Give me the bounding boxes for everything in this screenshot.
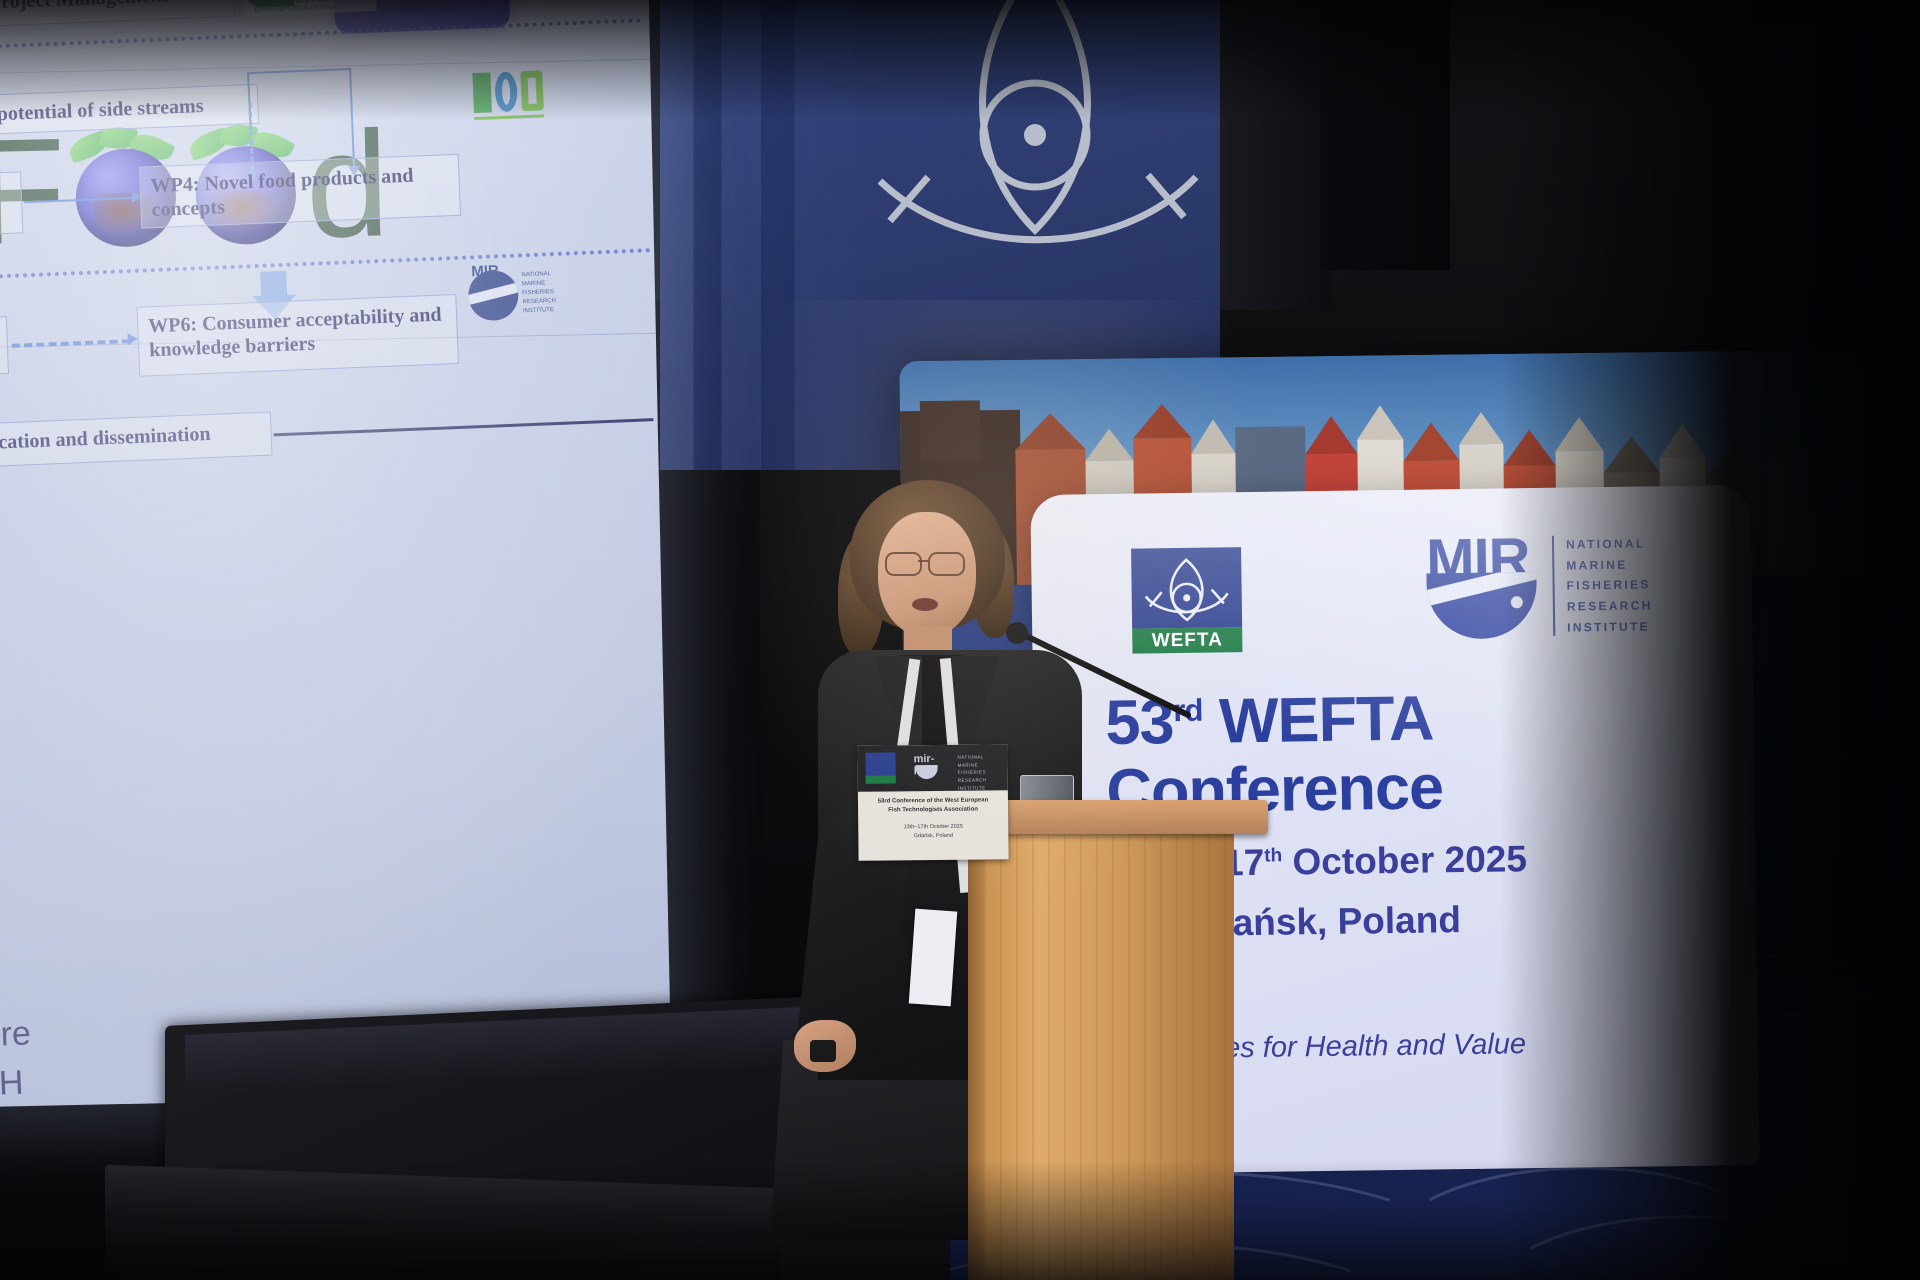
vignette-top xyxy=(0,0,1920,120)
wefta-logo-square xyxy=(1131,547,1242,629)
podium-sign-wefta-logo xyxy=(865,752,895,783)
podium-sign-details: 13th–17th October 2025 Gdańsk, Poland xyxy=(864,822,1002,841)
eyeglasses-bridge xyxy=(918,560,928,562)
lanyard-badge xyxy=(909,909,958,1007)
diagram-dashline-wp6 xyxy=(12,339,130,348)
diagram-line-sintef xyxy=(24,197,134,203)
microphone-head xyxy=(1006,622,1028,644)
podium-sign-title-line-2: Fish Technologists Association xyxy=(864,805,1002,815)
big-arrow-stem xyxy=(260,271,287,298)
podium-mir-subline-4: RESEARCH xyxy=(958,776,987,784)
headline-rest: WEFTA xyxy=(1202,683,1434,756)
podium-sign-mir-logo: mir-logo xyxy=(913,753,947,783)
gooseneck-microphone xyxy=(1020,630,1220,750)
mir-logo-small-sub: NATIONAL MARINE FISHERIES RESEARCH INSTI… xyxy=(521,270,556,316)
date-ord-end: th xyxy=(1264,845,1282,866)
conference-photo-scene: WEFTA MIR NATIONAL MARINE FISHERIES RESE… xyxy=(0,0,1920,1280)
wp-box-wp4: WP4: Novel food products and concepts xyxy=(139,154,461,229)
wp-box-communication: Communication and dissemination xyxy=(0,412,273,471)
podium-mir-subline-5: INSTITUTE xyxy=(958,784,987,792)
podium-mir-subline-1: NATIONAL xyxy=(957,753,986,761)
podium-sign-title: 53rd Conference of the West European Fis… xyxy=(864,796,1002,815)
eyeglasses-left-lens-icon xyxy=(885,552,922,576)
mir-logo-small: MIR NATIONAL MARINE FISHERIES RESEARCH I… xyxy=(467,260,549,325)
wp-box-wp6: WP6: Consumer acceptability and knowledg… xyxy=(136,294,459,377)
podium-sign-mir-sublines: NATIONAL MARINE FISHERIES RESEARCH INSTI… xyxy=(957,753,986,792)
wp-box-and: nd xyxy=(0,316,9,378)
wp-box-sintef: NTEF xyxy=(0,171,23,238)
vignette-right xyxy=(1500,0,1920,1280)
presentation-clicker xyxy=(810,1040,836,1062)
projection-screen: NTNU 4 F d P1: Project Managemen xyxy=(0,0,672,1107)
eyeglasses-right-lens-icon xyxy=(928,552,965,576)
mir-logo-small-disc xyxy=(467,270,519,322)
microphone-stem xyxy=(1019,630,1192,719)
vignette-bottom xyxy=(0,1160,1920,1280)
diagram-arrowhead-d xyxy=(128,333,138,345)
podium-sign-location: Gdańsk, Poland xyxy=(864,831,1002,841)
date-month-year: October 2025 xyxy=(1282,838,1527,882)
diagram-rule-bottom xyxy=(274,418,654,436)
podium-sign: mir-logo NATIONAL MARINE FISHERIES RESEA… xyxy=(857,744,1008,861)
mouth xyxy=(912,598,938,611)
wefta-emblem-arcs xyxy=(872,155,1202,265)
